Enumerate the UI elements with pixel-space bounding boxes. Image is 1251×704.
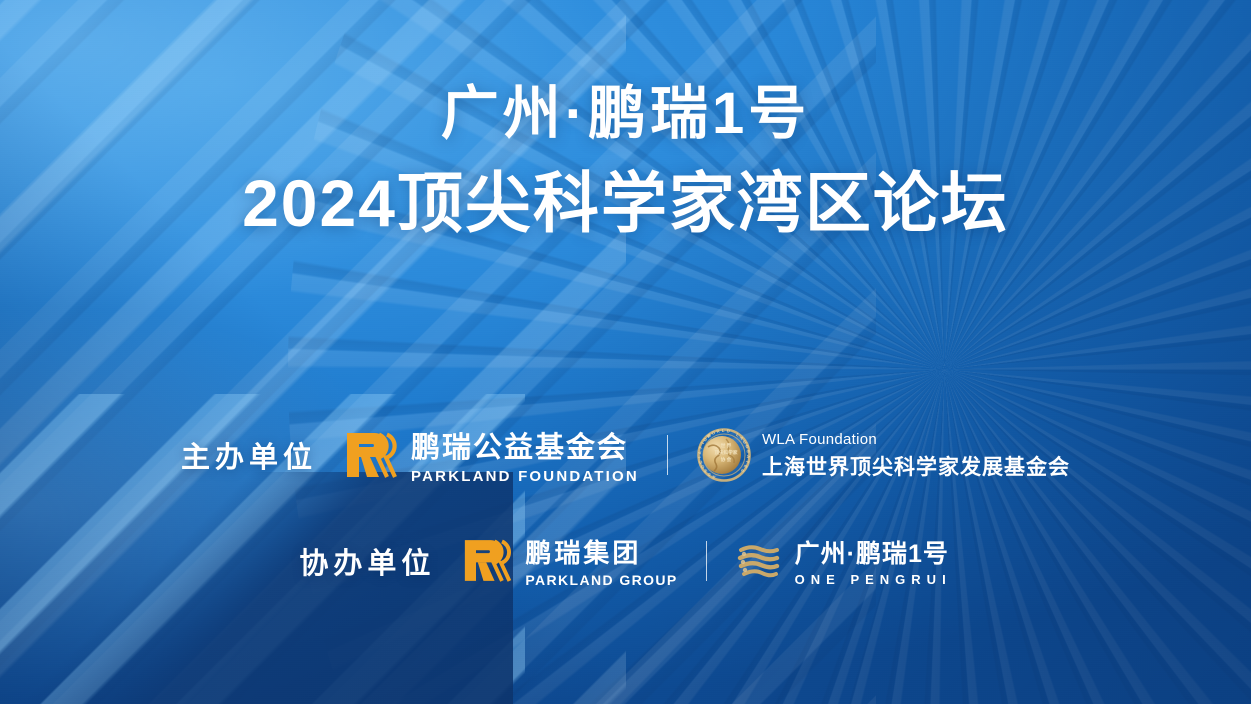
logo-parkland-foundation-en: PARKLAND FOUNDATION (411, 468, 639, 485)
logo-wla-foundation-cn: 上海世界顶尖科学家发展基金会 (762, 451, 1070, 481)
poster-title-line-2: 2024顶尖科学家湾区论坛 (242, 161, 1009, 247)
svg-text:A: A (746, 454, 751, 457)
logo-parkland-group-en: PARKLAND GROUP (525, 572, 677, 588)
logo-wla-foundation[interactable]: W O R L D L A U R E A T (696, 427, 1070, 483)
logo-one-pengrui-text: 广州·鹏瑞1号 ONE PENGRUI (795, 534, 952, 587)
svg-text:顶尖科学家: 顶尖科学家 (714, 449, 737, 456)
svg-text:A: A (697, 451, 702, 455)
logo-one-pengrui[interactable]: 广州·鹏瑞1号 ONE PENGRUI (735, 534, 952, 587)
svg-text:D: D (726, 428, 730, 433)
title-block: 广州·鹏瑞1号 2024顶尖科学家湾区论坛 (242, 78, 1009, 246)
sponsor-divider-2 (706, 541, 707, 581)
logo-parkland-group[interactable]: 鹏瑞集团 PARKLAND GROUP (463, 533, 677, 588)
logo-parkland-group-cn: 鹏瑞集团 (525, 533, 677, 570)
poster-canvas: 广州·鹏瑞1号 2024顶尖科学家湾区论坛 主办单位 (0, 0, 1251, 704)
logo-one-pengrui-cn: 广州·鹏瑞1号 (795, 534, 952, 570)
poster-title-line-1: 广州·鹏瑞1号 (242, 78, 1009, 151)
sponsors-section: 主办单位 (0, 424, 1251, 588)
sponsor-row-label-organizer: 主办单位 (181, 434, 317, 476)
logo-wla-foundation-en: WLA Foundation (762, 431, 1070, 448)
parkland-r-icon (345, 431, 401, 479)
logo-parkland-foundation-cn: 鹏瑞公益基金会 (411, 424, 639, 466)
sponsor-row-label-co-organizer: 协办单位 (299, 540, 435, 582)
sponsor-row-organizers: 主办单位 (0, 424, 1251, 485)
parkland-r-icon (463, 538, 515, 583)
logo-parkland-group-text: 鹏瑞集团 PARKLAND GROUP (525, 533, 677, 588)
one-pengrui-wave-icon (735, 540, 785, 582)
logo-one-pengrui-en: ONE PENGRUI (795, 572, 952, 587)
sponsor-row-co-organizers: 协办单位 (0, 533, 1251, 588)
wla-globe-icon: W O R L D L A U R E A T (696, 427, 752, 483)
logo-parkland-foundation[interactable]: 鹏瑞公益基金会 PARKLAND FOUNDATION (345, 424, 639, 485)
logo-parkland-foundation-text: 鹏瑞公益基金会 PARKLAND FOUNDATION (411, 424, 639, 485)
sponsor-divider-1 (667, 435, 668, 475)
svg-text:世 界: 世 界 (721, 442, 732, 449)
logo-wla-foundation-text: WLA Foundation 上海世界顶尖科学家发展基金会 (762, 429, 1070, 481)
poster-content: 广州·鹏瑞1号 2024顶尖科学家湾区论坛 主办单位 (0, 0, 1251, 704)
svg-text:协 会: 协 会 (721, 456, 732, 463)
